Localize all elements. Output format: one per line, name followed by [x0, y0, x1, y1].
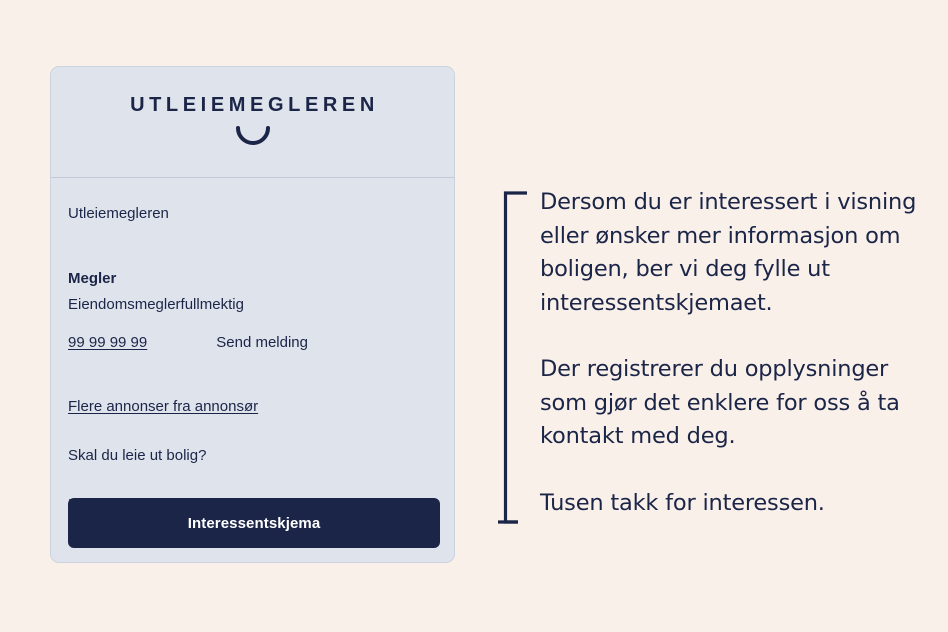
annotation-paragraph-2: Der registrerer du opplysninger som gjør…	[540, 353, 920, 454]
broker-name: Megler	[68, 269, 438, 289]
send-message-link[interactable]: Send melding	[216, 334, 308, 351]
annotation-paragraph-3: Tusen takk for interessen.	[540, 487, 920, 521]
rent-out-property-link[interactable]: Skal du leie ut bolig?	[68, 447, 438, 464]
contact-row: 99 99 99 99 Send melding	[67, 334, 438, 351]
more-ads-from-advertiser-link[interactable]: Flere annonser fra annonsør	[68, 398, 258, 415]
brand-wordmark: UTLEIEMEGLEREN	[126, 95, 379, 115]
agent-contact-card: UTLEIEMEGLEREN Utleiemegleren Megler Eie…	[50, 66, 455, 563]
broker-block: Megler Eiendomsmeglerfullmektig	[67, 269, 438, 315]
broker-phone-link[interactable]: 99 99 99 99	[68, 334, 147, 351]
links-block: Flere annonser fra annonsør Skal du leie…	[67, 398, 438, 513]
annotation-text-block: Dersom du er interessert i visning eller…	[540, 186, 920, 520]
broker-title: Eiendomsmeglerfullmektig	[68, 295, 438, 315]
smile-arc-icon	[235, 126, 271, 151]
company-name: Utleiemegleren	[67, 204, 438, 224]
interest-form-button[interactable]: Interessentskjema	[68, 498, 440, 548]
card-header: UTLEIEMEGLEREN	[51, 67, 454, 178]
annotation-paragraph-1: Dersom du er interessert i visning eller…	[540, 186, 920, 320]
card-body: Utleiemegleren Megler Eiendomsmeglerfull…	[51, 178, 454, 513]
